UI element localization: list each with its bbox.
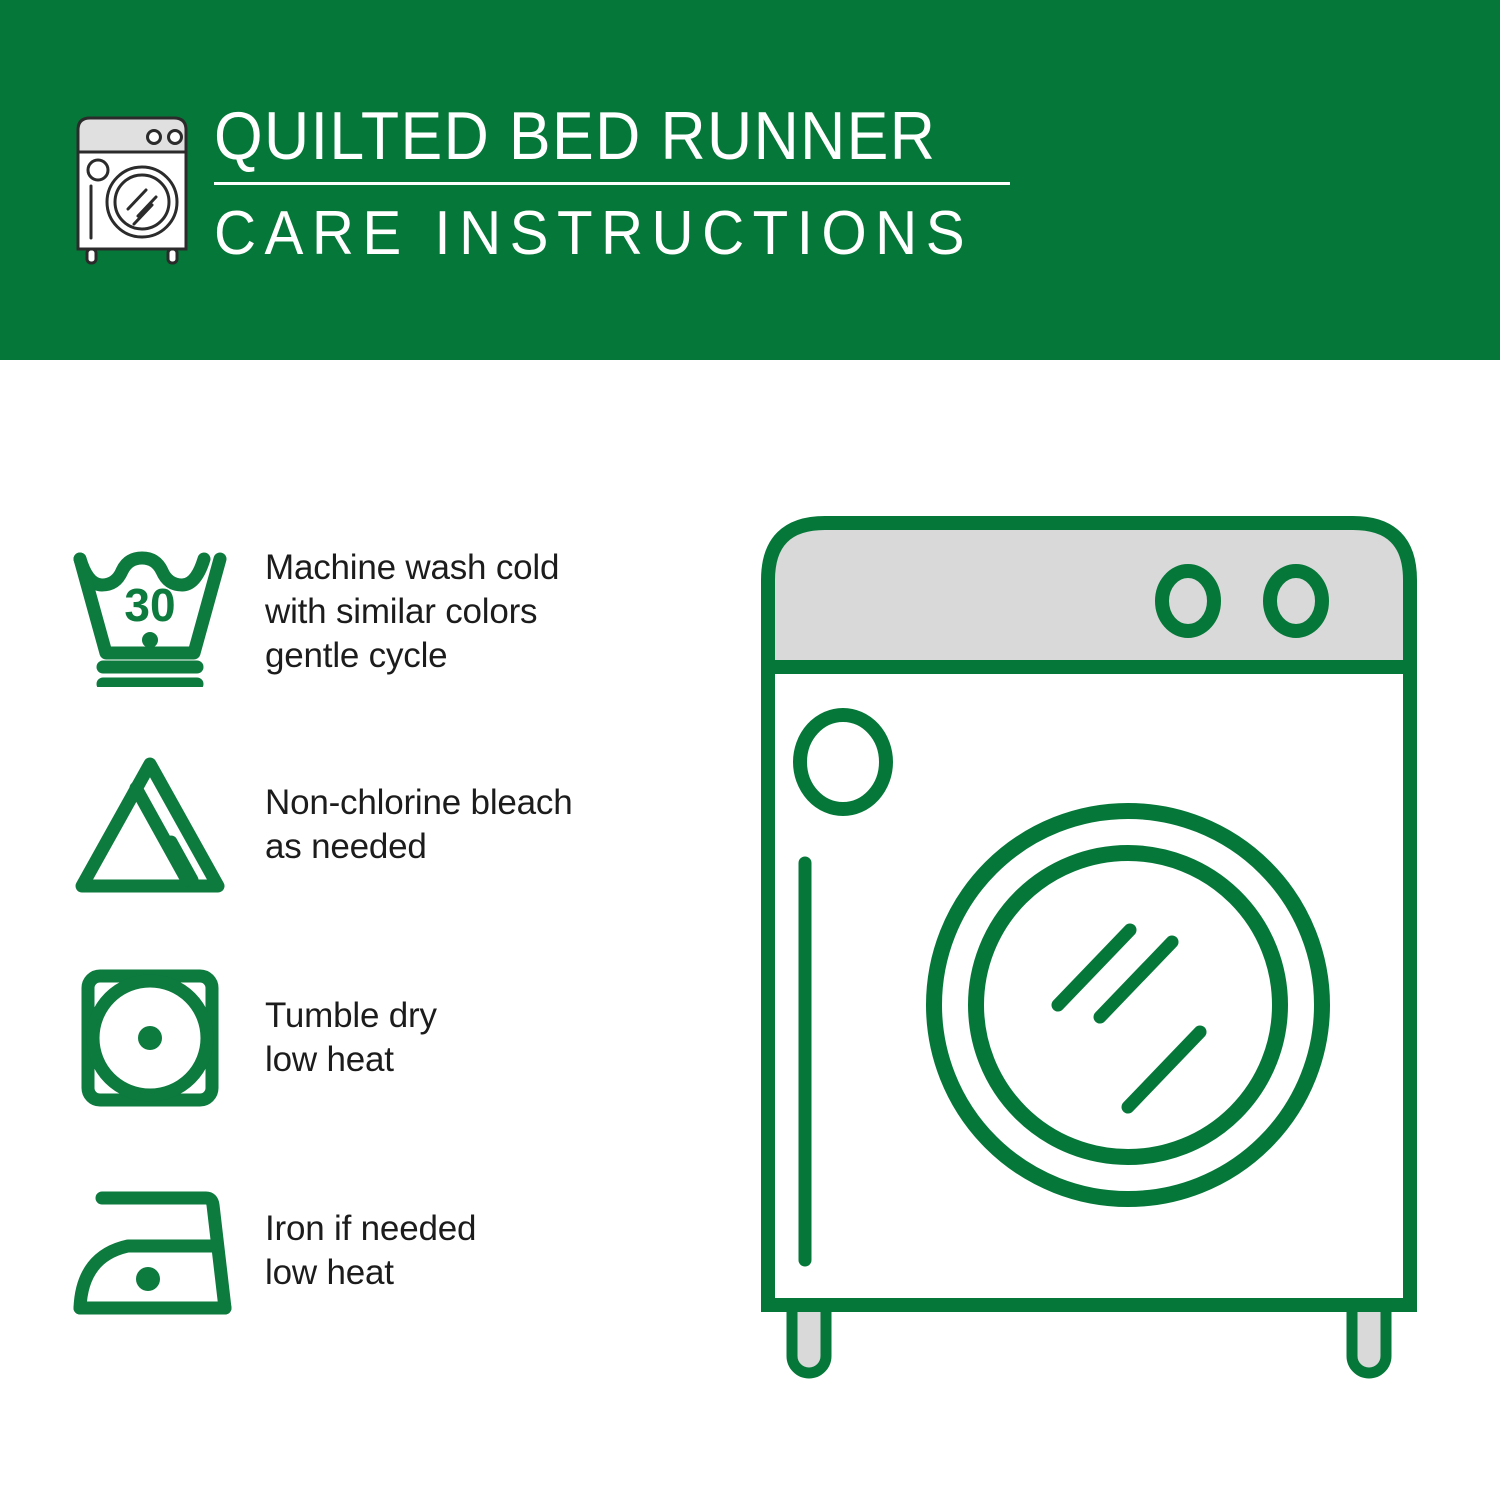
list-item: Non-chlorine bleach as needed bbox=[70, 718, 690, 931]
care-text-line-1: Non-chlorine bleach bbox=[265, 781, 573, 825]
care-text-line-3: gentle cycle bbox=[265, 634, 559, 678]
wash-tub-30-gentle-icon: 30 bbox=[70, 532, 245, 692]
iron-low-heat-icon bbox=[70, 1171, 245, 1331]
list-item: Iron if needed low heat bbox=[70, 1144, 690, 1357]
care-text-line-2: with similar colors bbox=[265, 590, 559, 634]
page-title: QUILTED BED RUNNER bbox=[214, 98, 950, 174]
knob-right bbox=[1270, 571, 1322, 631]
list-item: 30 Machine wash cold with similar colors… bbox=[70, 505, 690, 718]
list-item-text: Non-chlorine bleach as needed bbox=[245, 781, 573, 869]
non-chlorine-bleach-triangle-icon bbox=[70, 745, 245, 905]
washing-machine-illustration bbox=[740, 495, 1450, 1405]
header-text-block: QUILTED BED RUNNER CARE INSTRUCTIONS bbox=[214, 98, 1014, 269]
care-text-line-2: as needed bbox=[265, 825, 573, 869]
list-item-text: Machine wash cold with similar colors ge… bbox=[245, 546, 559, 678]
header-divider bbox=[214, 182, 1010, 185]
care-instructions-page: QUILTED BED RUNNER CARE INSTRUCTIONS bbox=[0, 0, 1500, 1500]
knob-left bbox=[1162, 571, 1214, 631]
care-text-line-2: low heat bbox=[265, 1038, 437, 1082]
care-instructions-list: 30 Machine wash cold with similar colors… bbox=[70, 505, 690, 1357]
list-item-text: Iron if needed low heat bbox=[245, 1207, 476, 1295]
header-banner: QUILTED BED RUNNER CARE INSTRUCTIONS bbox=[0, 0, 1500, 360]
list-item-text: Tumble dry low heat bbox=[245, 994, 437, 1082]
tumble-dry-low-heat-icon bbox=[70, 958, 245, 1118]
page-subtitle: CARE INSTRUCTIONS bbox=[214, 199, 966, 269]
care-text-line-1: Iron if needed bbox=[265, 1207, 476, 1251]
care-text-line-1: Machine wash cold bbox=[265, 546, 559, 590]
washing-machine-icon bbox=[62, 104, 202, 269]
wash-temperature-label: 30 bbox=[124, 579, 175, 631]
detergent-dispenser bbox=[800, 715, 886, 809]
list-item: Tumble dry low heat bbox=[70, 931, 690, 1144]
care-text-line-2: low heat bbox=[265, 1251, 476, 1295]
care-text-line-1: Tumble dry bbox=[265, 994, 437, 1038]
